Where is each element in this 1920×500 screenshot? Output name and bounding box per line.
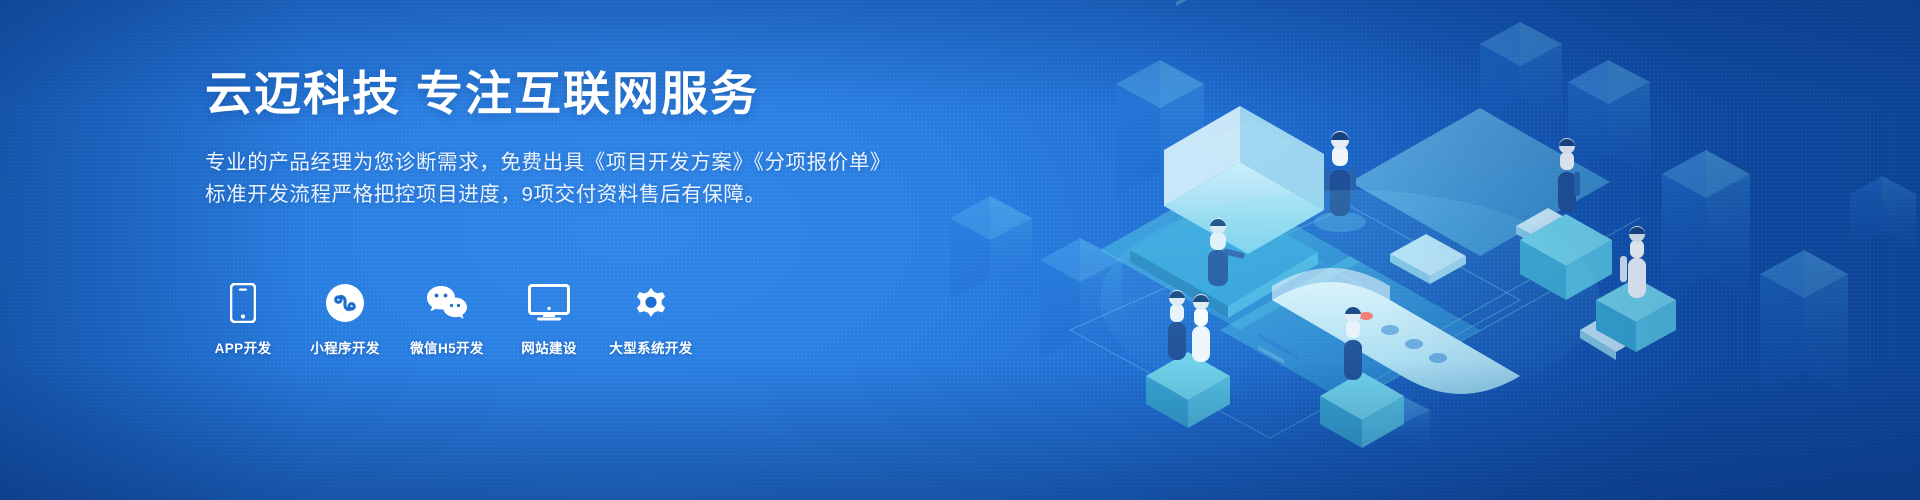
service-label: APP开发 (215, 337, 272, 357)
monitor-icon (528, 282, 570, 324)
service-item-large-system[interactable]: 大型系统开发 (613, 282, 689, 357)
service-label: 网站建设 (521, 337, 577, 357)
service-label: 小程序开发 (310, 337, 380, 357)
hero-copy: 云迈科技 专注互联网服务 专业的产品经理为您诊断需求，免费出具《项目开发方案》《… (205, 66, 965, 211)
service-item-wechat-h5[interactable]: 微信H5开发 (409, 282, 485, 357)
wechat-icon (425, 282, 469, 324)
page-title: 云迈科技 专注互联网服务 (205, 66, 965, 121)
service-label: 微信H5开发 (410, 337, 484, 357)
hero-banner: 云迈科技 专注互联网服务 专业的产品经理为您诊断需求，免费出具《项目开发方案》《… (0, 0, 1920, 500)
hero-subtitle: 专业的产品经理为您诊断需求，免费出具《项目开发方案》《分项报价单》 标准开发流程… (205, 147, 965, 211)
service-label: 大型系统开发 (609, 337, 692, 357)
mini-program-icon (325, 282, 365, 324)
service-list: APP开发 小程序开发 (205, 282, 689, 357)
subtitle-line-1: 专业的产品经理为您诊断需求，免费出具《项目开发方案》《分项报价单》 (205, 147, 965, 179)
hero-illustration (920, 0, 1920, 500)
subtitle-line-2: 标准开发流程严格把控项目进度，9项交付资料售后有保障。 (205, 179, 965, 211)
gear-icon (631, 282, 671, 324)
service-item-mini-program[interactable]: 小程序开发 (307, 282, 383, 357)
service-item-website[interactable]: 网站建设 (511, 282, 587, 357)
mobile-phone-icon (230, 282, 256, 324)
service-item-app[interactable]: APP开发 (205, 282, 281, 357)
